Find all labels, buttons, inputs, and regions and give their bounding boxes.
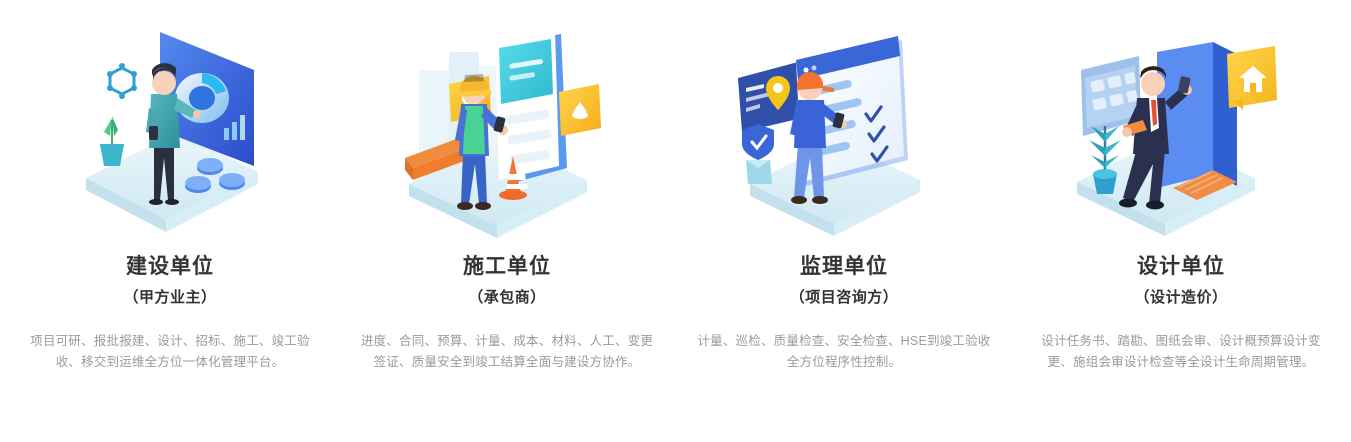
role-card-designer[interactable]: 设计单位 （设计造价） 设计任务书、踏勘、图纸会审、设计概预算设计变更、施组会审…	[1013, 0, 1350, 442]
role-card-owner[interactable]: 建设单位 （甲方业主） 项目可研、报批报建、设计、招标、施工、竣工验收、移交到运…	[2, 0, 339, 442]
designer-blueprint-illustration	[1061, 8, 1301, 240]
role-card-contractor[interactable]: 施工单位 （承包商） 进度、合同、预算、计量、成本、材料、人工、变更签证、质量安…	[339, 0, 676, 442]
document-panel	[495, 30, 567, 184]
role-subtitle: （设计造价）	[1134, 287, 1227, 309]
role-title: 建设单位	[126, 254, 214, 280]
role-description: 进度、合同、预算、计量、成本、材料、人工、变更签证、质量安全到竣工结算全面与建设…	[357, 331, 657, 373]
role-subtitle: （承包商）	[468, 287, 546, 309]
role-title: 施工单位	[463, 254, 551, 280]
yellow-house-card	[1227, 46, 1277, 110]
donut-chart	[175, 73, 229, 123]
role-description: 计量、巡检、质量检查、安全检查、HSE到竣工验收全方位程序性控制。	[694, 331, 994, 373]
role-subtitle: （甲方业主）	[123, 287, 216, 309]
door-panel	[1157, 42, 1237, 188]
contractor-mobile-illustration	[387, 8, 627, 240]
shield-badge	[742, 124, 774, 184]
yellow-card-right	[559, 84, 601, 136]
map-location-card	[738, 62, 802, 132]
role-description: 设计任务书、踏勘、图纸会审、设计概预算设计变更、施组会审设计检查等全设计生命周期…	[1031, 331, 1331, 373]
project-roles-section: 建设单位 （甲方业主） 项目可研、报批报建、设计、招标、施工、竣工验收、移交到运…	[0, 0, 1351, 442]
role-title: 设计单位	[1137, 254, 1225, 280]
role-description: 项目可研、报批报建、设计、招标、施工、竣工验收、移交到运维全方位一体化管理平台。	[20, 331, 320, 373]
role-title: 监理单位	[800, 254, 888, 280]
role-card-supervisor[interactable]: 监理单位 （项目咨询方） 计量、巡检、质量检查、安全检查、HSE到竣工验收全方位…	[676, 0, 1013, 442]
supervisor-inspection-illustration	[724, 8, 964, 240]
potted-plant	[100, 116, 124, 166]
role-subtitle: （项目咨询方）	[790, 287, 899, 309]
hexagon-node-icon	[107, 63, 137, 99]
owner-dashboard-illustration	[50, 8, 290, 240]
